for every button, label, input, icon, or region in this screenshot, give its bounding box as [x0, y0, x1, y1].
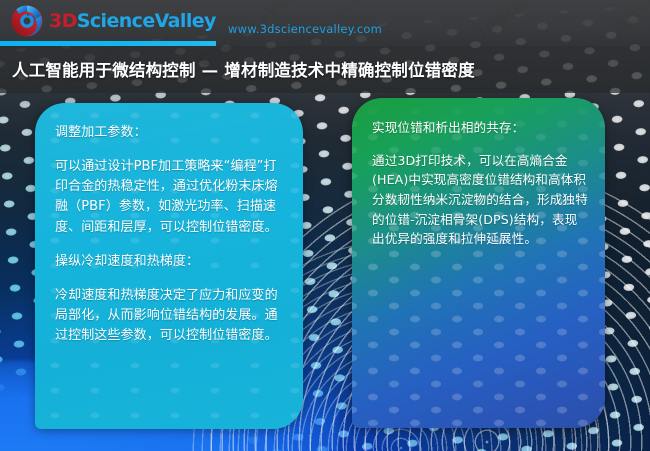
- header-bar: 3DScienceValley www.3dsciencevalley.com: [0, 0, 650, 46]
- panel-left-paragraph: 可以通过设计PBF加工策略来“编程”打印合金的热稳定性，通过优化粉末床熔融（PB…: [55, 157, 286, 238]
- panel-right-paragraph: 实现位错和析出相的共存：: [372, 118, 588, 138]
- content-panel-right-body: 实现位错和析出相的共存：通过3D打印技术，可以在高熵合金(HEA)中实现高密度位…: [372, 118, 588, 249]
- panel-left-paragraph: 冷却速度和热梯度决定了应力和应变的局部化，从而影响位错结构的发展。通过控制这些参…: [55, 286, 286, 346]
- logo-text-3d: 3D: [49, 10, 77, 32]
- panel-left-paragraph: 调整加工参数：: [55, 123, 286, 143]
- logo-text-sciencevalley: ScienceValley: [77, 10, 216, 32]
- logo-wordmark: 3DScienceValley: [49, 12, 216, 31]
- panel-left-paragraph: 操纵冷却速度和热梯度：: [55, 252, 286, 272]
- page-title: 人工智能用于微结构控制 — 增材制造技术中精确控制位错密度: [12, 57, 475, 81]
- site-logo[interactable]: 3DScienceValley: [10, 4, 216, 38]
- panel-right-paragraph: 通过3D打印技术，可以在高熵合金(HEA)中实现高密度位错结构和高体积分数韧性纳…: [372, 151, 588, 249]
- header-accent-rule: [0, 41, 216, 46]
- content-panel-left-body: 调整加工参数：可以通过设计PBF加工策略来“编程”打印合金的热稳定性，通过优化粉…: [55, 123, 286, 346]
- content-panel-right: 实现位错和析出相的共存：通过3D打印技术，可以在高熵合金(HEA)中实现高密度位…: [352, 98, 605, 428]
- slide-canvas: 3DScienceValley3DScienceValley3DScienceV…: [0, 0, 650, 451]
- site-url-link[interactable]: www.3dsciencevalley.com: [228, 22, 382, 36]
- content-panel-left: 调整加工参数：可以通过设计PBF加工策略来“编程”打印合金的热稳定性，通过优化粉…: [35, 103, 303, 429]
- swirl-logo-icon: [10, 4, 44, 38]
